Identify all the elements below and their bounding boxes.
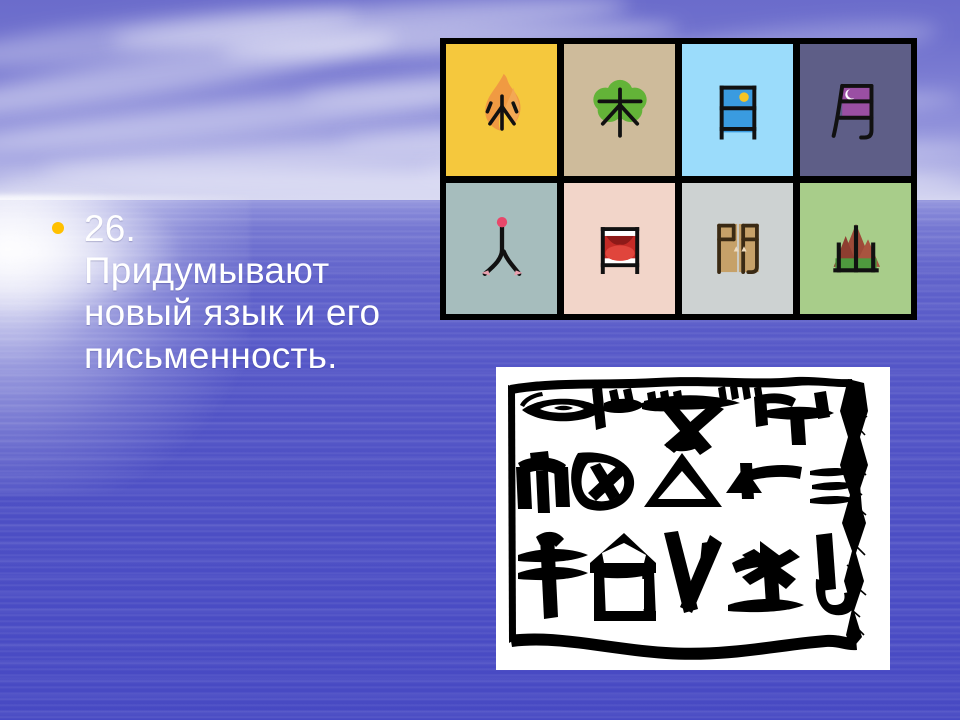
grid-cell-mouth[interactable] (564, 183, 675, 315)
mouth-character-icon (577, 205, 663, 291)
gate-character-icon (695, 205, 781, 291)
person-character-icon (459, 205, 545, 291)
cloud-wisp (0, 0, 361, 80)
ancient-script-tablet-image (496, 367, 890, 670)
grid-cell-sun[interactable] (682, 44, 793, 176)
bullet-item: 26. Придумывают новый язык и его письмен… (52, 208, 402, 377)
fire-character-icon (459, 67, 545, 153)
grid-cell-moon[interactable] (800, 44, 911, 176)
sun-character-icon (695, 67, 781, 153)
grid-cell-tree[interactable] (564, 44, 675, 176)
tree-character-icon (577, 67, 663, 153)
presentation-slide: 26. Придумывают новый язык и его письмен… (0, 0, 960, 720)
grid-cell-person[interactable] (446, 183, 557, 315)
moon-character-icon (813, 67, 899, 153)
mountain-character-icon (813, 205, 899, 291)
grid-cell-mountain[interactable] (800, 183, 911, 315)
cloud-wisp (0, 19, 400, 132)
bullet-dot-icon (52, 222, 64, 234)
grid-cell-gate[interactable] (682, 183, 793, 315)
bullet-text: 26. Придумывают новый язык и его письмен… (84, 208, 402, 377)
character-illustration-grid (440, 38, 917, 320)
grid-cell-fire[interactable] (446, 44, 557, 176)
